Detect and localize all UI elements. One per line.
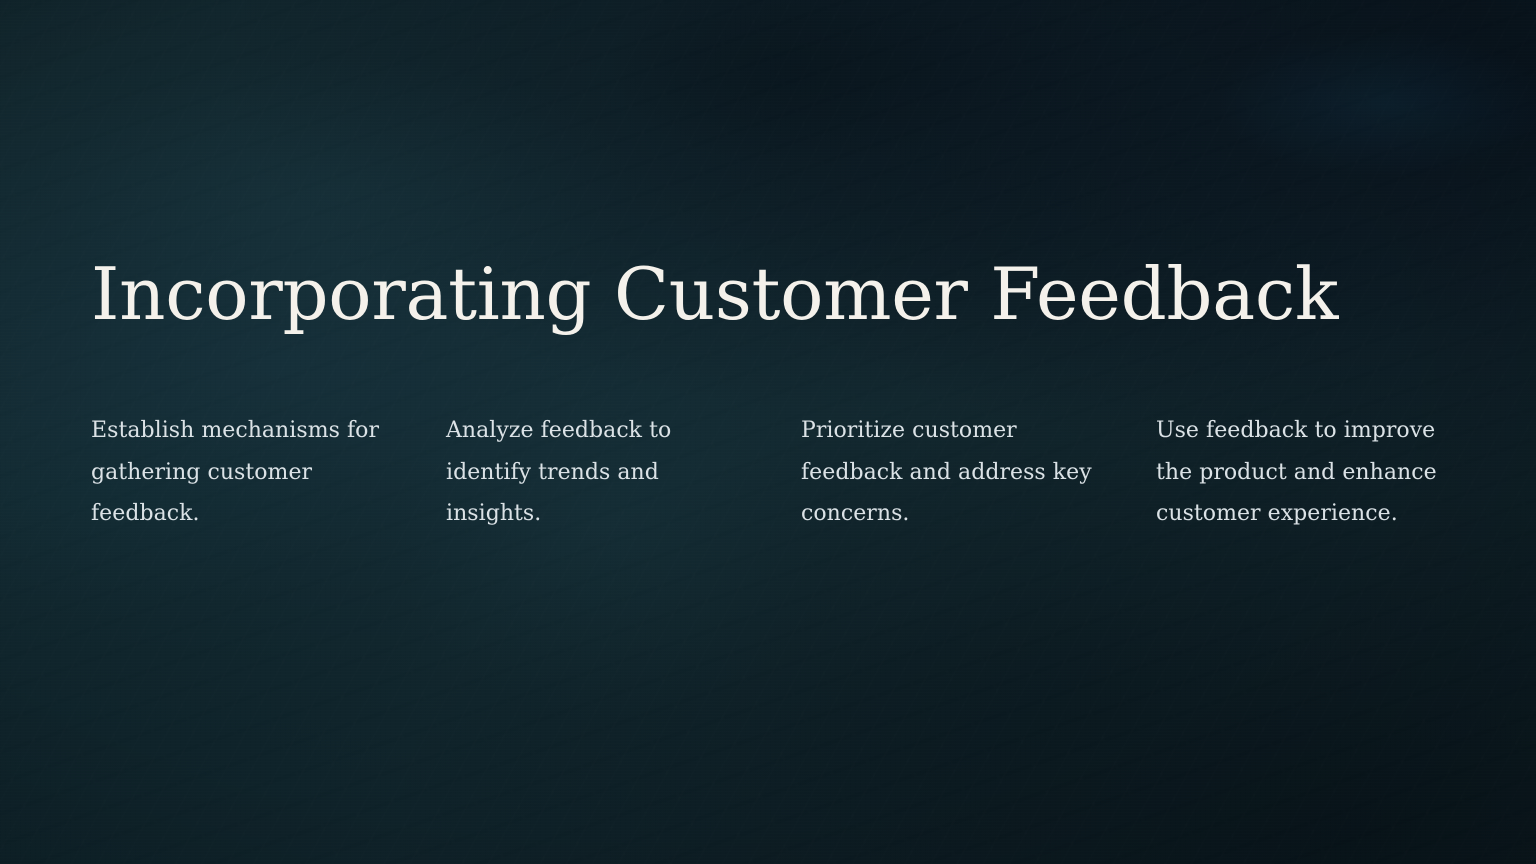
slide-content: Incorporating Customer Feedback Establis… — [0, 0, 1536, 864]
column-item: Establish mechanisms for gathering custo… — [91, 410, 382, 535]
column-body-text: Establish mechanisms for gathering custo… — [91, 410, 382, 535]
column-item: Prioritize customer feedback and address… — [801, 410, 1092, 535]
presentation-slide: Incorporating Customer Feedback Establis… — [0, 0, 1536, 864]
column-item: Use feedback to improve the product and … — [1156, 410, 1447, 535]
column-item: Analyze feedback to identify trends and … — [446, 410, 737, 535]
column-body-text: Analyze feedback to identify trends and … — [446, 410, 737, 535]
feature-columns: Establish mechanisms for gathering custo… — [91, 410, 1451, 535]
slide-title: Incorporating Customer Feedback — [91, 258, 1411, 331]
column-body-text: Prioritize customer feedback and address… — [801, 410, 1092, 535]
column-body-text: Use feedback to improve the product and … — [1156, 410, 1447, 535]
